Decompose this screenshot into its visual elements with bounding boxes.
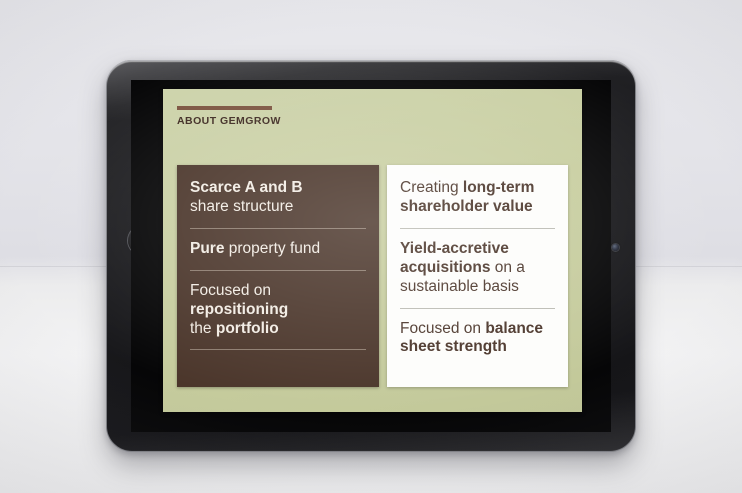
statement-balance-sheet: Focused on balancesheet strength	[400, 320, 555, 358]
statement-scarce-shares: Scarce A and Bshare structure	[190, 179, 366, 217]
presentation-slide: ABOUT GEMGROW Scarce A and Bshare struct…	[163, 89, 582, 412]
statement-repositioning: Focused onrepositioningthe portfolio	[190, 282, 366, 339]
right-statement-panel: Creating long-termshareholder valueYield…	[387, 165, 568, 387]
page-title: ABOUT GEMGROW	[177, 115, 281, 127]
statement-separator	[190, 228, 366, 229]
statement-long-term-value: Creating long-termshareholder value	[400, 179, 555, 217]
front-camera-icon	[612, 244, 619, 251]
left-statement-panel: Scarce A and Bshare structurePure proper…	[177, 165, 379, 387]
statement-yield-accretive: Yield-accretiveacquisitions on asustaina…	[400, 240, 555, 297]
scene: ABOUT GEMGROW Scarce A and Bshare struct…	[0, 0, 742, 493]
statement-separator	[400, 308, 555, 309]
statement-pure-fund: Pure property fund	[190, 240, 366, 259]
header-accent-rule	[177, 106, 272, 110]
tablet-screen[interactable]: ABOUT GEMGROW Scarce A and Bshare struct…	[131, 80, 611, 432]
statement-separator	[190, 270, 366, 271]
statement-separator	[190, 349, 366, 350]
statement-panels: Scarce A and Bshare structurePure proper…	[177, 165, 568, 387]
statement-separator	[400, 228, 555, 229]
slide-header: ABOUT GEMGROW	[177, 106, 281, 127]
tablet-device: ABOUT GEMGROW Scarce A and Bshare struct…	[106, 60, 636, 452]
